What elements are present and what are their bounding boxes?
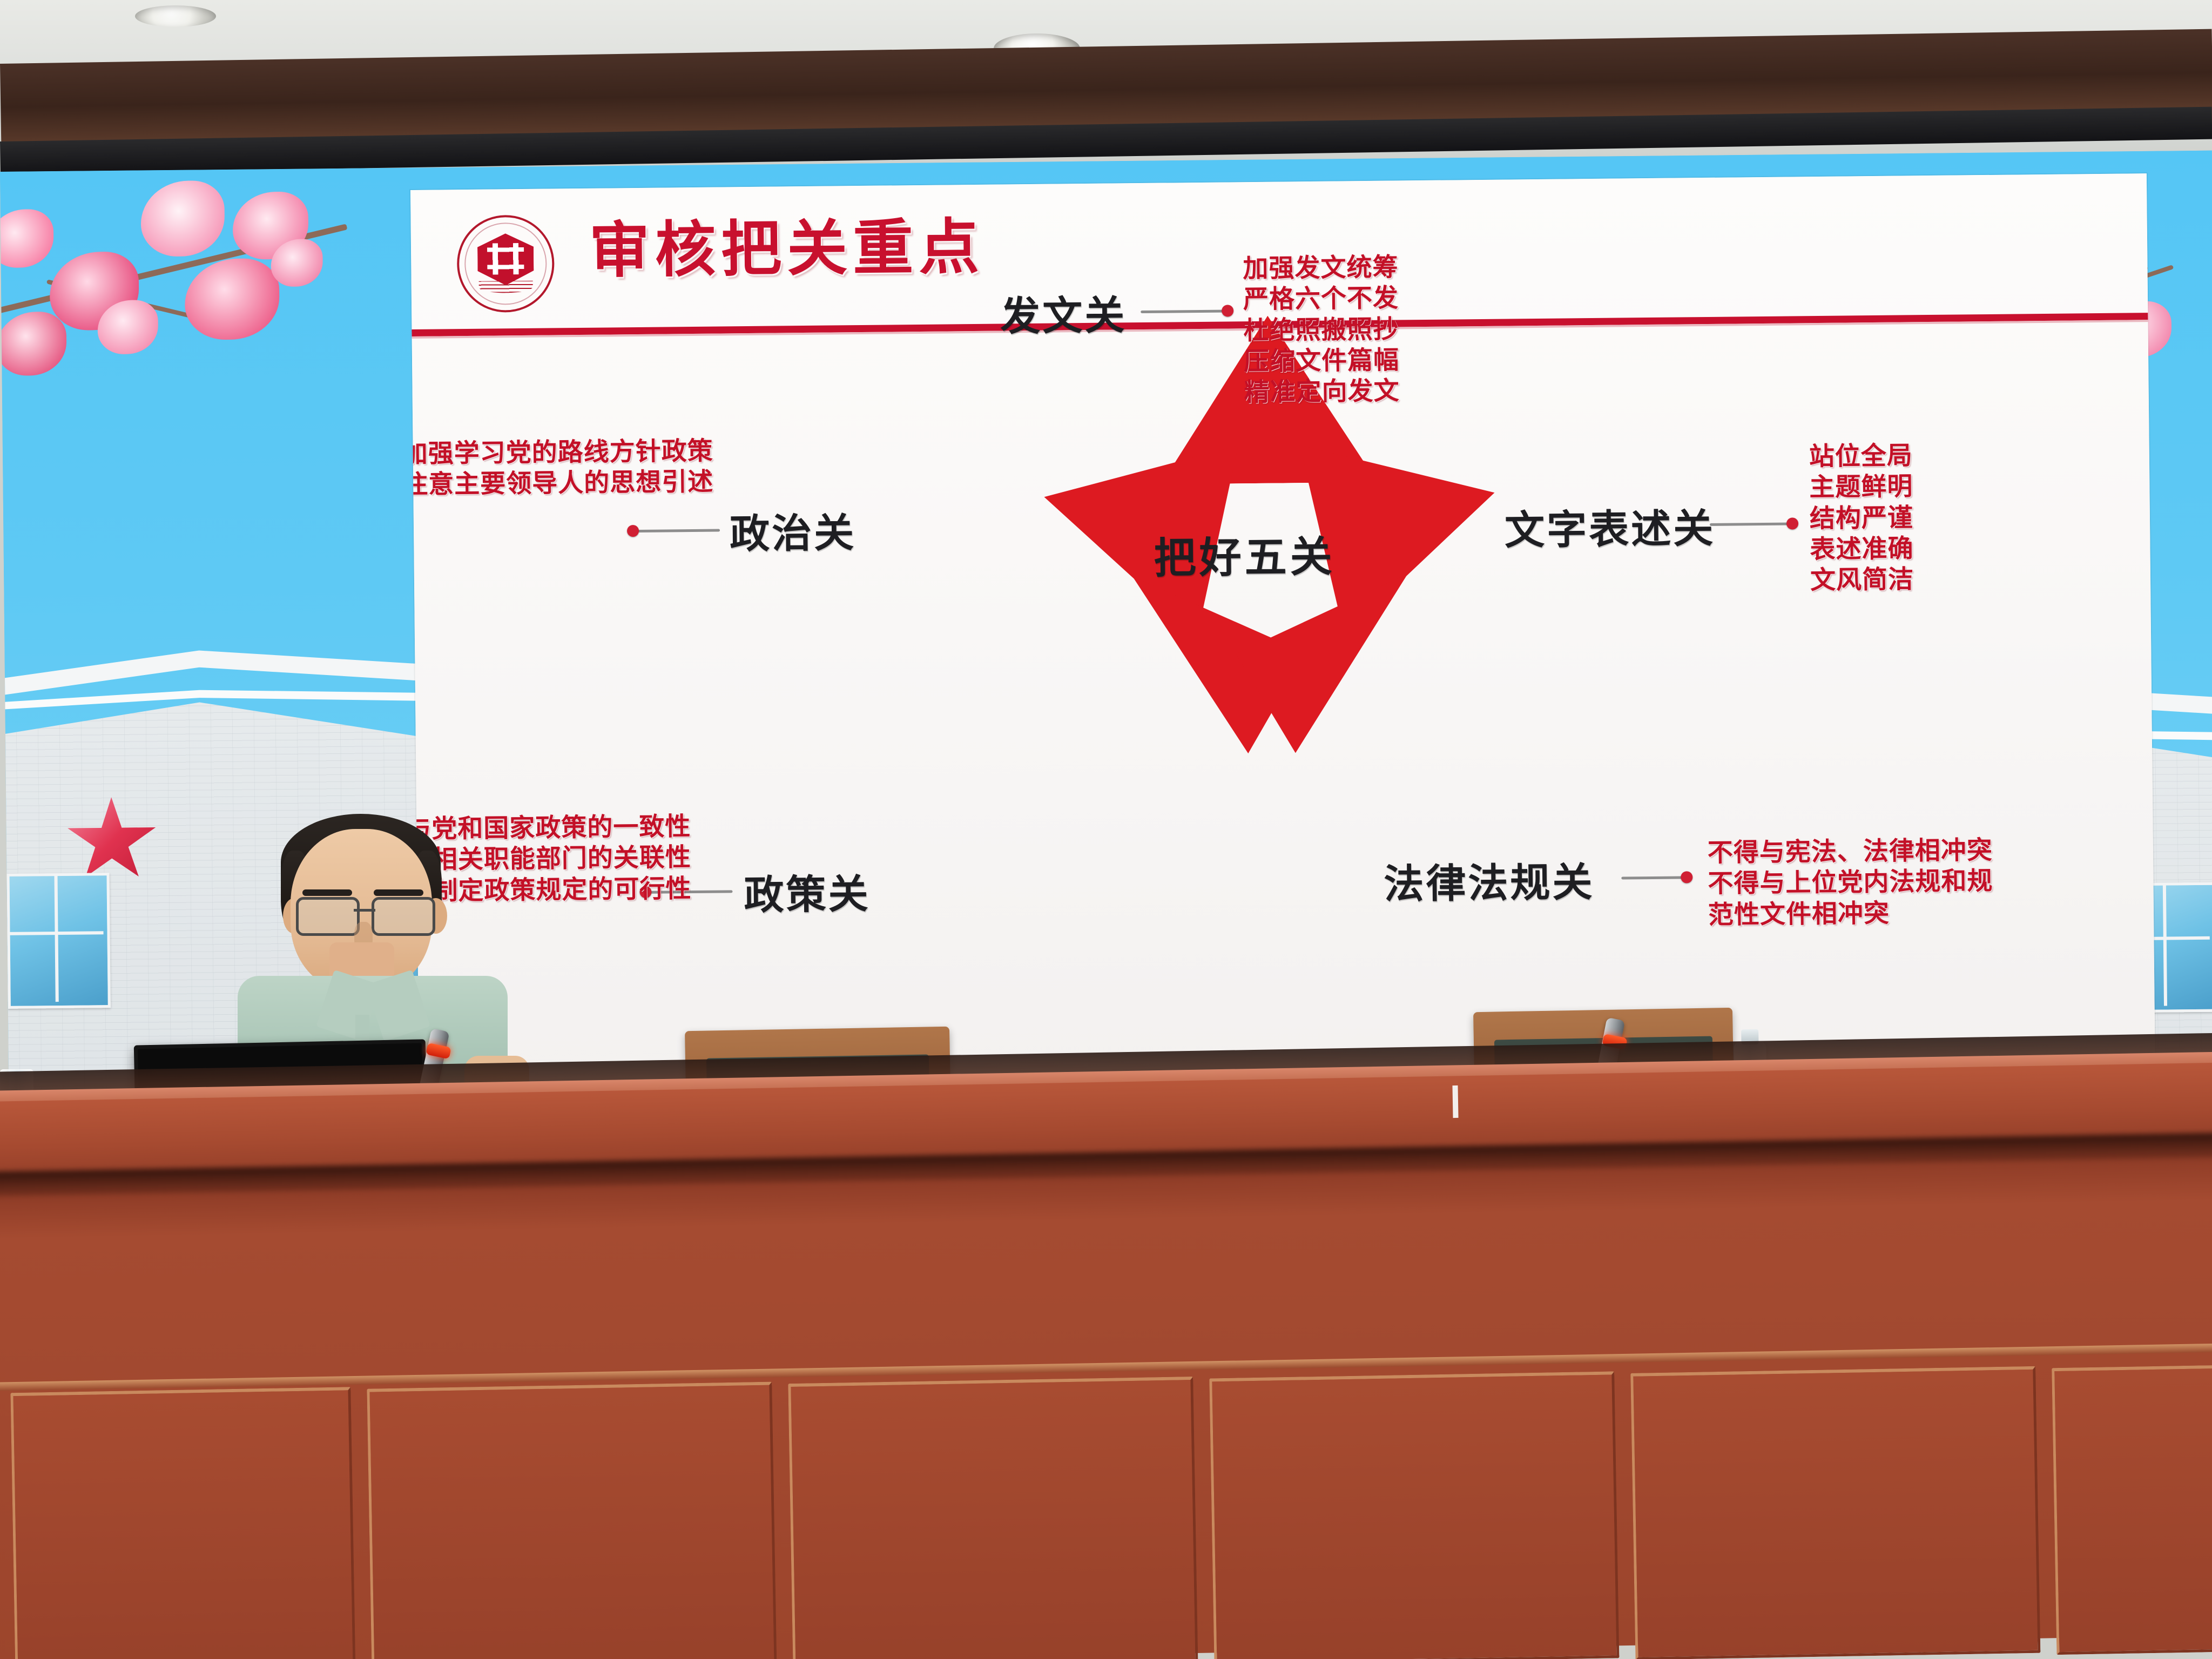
detail-item: 不得与上位党内法规和规	[1708, 866, 1993, 899]
detail-item: 加强发文统筹	[1243, 252, 1399, 284]
detail-list-zhengzhi: 加强学习党的路线方针政策 注意主要领导人的思想引述	[410, 436, 713, 501]
presenter-eyebrow	[374, 889, 423, 896]
desk-panel	[2052, 1365, 2212, 1655]
desk-panel	[1630, 1366, 2040, 1659]
eyeglasses-bridge	[354, 909, 375, 912]
detail-item: 主题鲜明	[1809, 471, 1913, 503]
star-center-label: 把好五关	[1154, 523, 1336, 585]
plum-blossom-branch-left	[0, 163, 402, 399]
eyeglasses-icon	[296, 897, 360, 936]
detail-list-fawen: 加强发文统筹 严格六个不发 杜绝照搬照抄 压缩文件篇幅 精准定向发文	[1243, 252, 1400, 408]
detail-item: 表述准确	[1810, 533, 1914, 565]
detail-list-wenzi: 站位全局 主题鲜明 结构严谨 表述准确 文风简洁	[1809, 440, 1914, 596]
screenshot-root: 审核把关重点 把好五关 发文关 加强发文统筹 严格六个不发 杜绝照搬照抄 压缩文…	[0, 0, 2212, 1659]
connector-dot-fawen	[1222, 305, 1233, 316]
detail-item: 站位全局	[1809, 440, 1913, 472]
detail-item: 加强学习党的路线方针政策	[410, 436, 713, 470]
desk-panel	[788, 1377, 1198, 1659]
detail-item: 不得与宪法、法律相冲突	[1708, 835, 1993, 868]
desk-seam	[1452, 1085, 1458, 1118]
node-label-falv: 法律法规关	[1384, 850, 1595, 910]
detail-item: 范性文件相冲突	[1708, 897, 1994, 930]
node-label-zhengzhi: 政治关	[730, 501, 857, 559]
detail-item: 杜绝照搬照抄	[1243, 314, 1399, 346]
presenter-eyebrow	[302, 889, 352, 896]
detail-item: 精准定向发文	[1244, 376, 1400, 408]
node-label-wenzi: 文字表述关	[1505, 496, 1716, 556]
connector-dot-falv	[1681, 871, 1692, 883]
slide-title: 审核把关重点	[589, 217, 985, 281]
ceiling-downlight	[135, 5, 216, 27]
connector-dot-zhengzhi	[627, 525, 639, 537]
presentation-slide: 审核把关重点 把好五关 发文关 加强发文统筹 严格六个不发 杜绝照搬照抄 压缩文…	[410, 173, 2155, 1087]
building-window	[6, 873, 110, 1009]
node-label-zhengce: 政策关	[744, 862, 871, 921]
detail-list-falv: 不得与宪法、法律相冲突 不得与上位党内法规和规 范性文件相冲突	[1708, 835, 1994, 930]
detail-item: 压缩文件篇幅	[1244, 345, 1400, 377]
desk-panel	[10, 1387, 355, 1659]
detail-item: 结构严谨	[1810, 502, 1914, 534]
detail-item: 注意主要领导人的思想引述	[410, 467, 713, 501]
detail-item: 文风简洁	[1810, 564, 1914, 596]
node-label-fawen: 发文关	[1000, 283, 1127, 342]
desk-panel	[367, 1382, 777, 1659]
desk-panels	[0, 1062, 2212, 1659]
connector-dot-wenzi	[1786, 517, 1798, 529]
university-logo-icon	[456, 214, 555, 313]
eyeglasses-icon	[372, 897, 435, 936]
desk-panel	[1209, 1371, 1619, 1659]
detail-item: 严格六个不发	[1243, 283, 1399, 315]
